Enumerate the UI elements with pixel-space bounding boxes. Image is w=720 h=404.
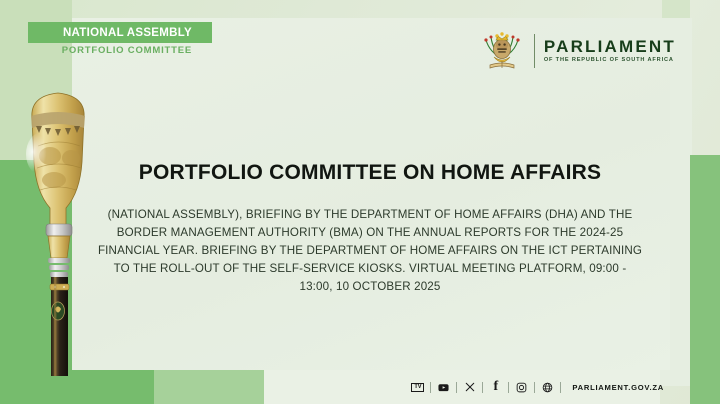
- committee-label: PORTFOLIO COMMITTEE: [28, 45, 212, 56]
- tv-icon[interactable]: TV: [411, 383, 424, 392]
- youtube-icon[interactable]: [437, 381, 450, 394]
- footer-divider: [482, 382, 483, 393]
- bottom-band-light: [154, 370, 264, 404]
- national-assembly-banner: NATIONAL ASSEMBLY: [28, 22, 212, 43]
- social-footer: TV f: [411, 380, 664, 394]
- footer-divider: [560, 382, 561, 393]
- meeting-description: (NATIONAL ASSEMBLY), BRIEFING BY THE DEP…: [96, 206, 644, 296]
- footer-divider: [430, 382, 431, 393]
- logo-subtitle: OF THE REPUBLIC OF SOUTH AFRICA: [544, 58, 676, 64]
- national-assembly-mace-icon: [24, 88, 92, 376]
- website-url[interactable]: PARLIAMENT.GOV.ZA: [572, 383, 664, 392]
- instagram-icon[interactable]: [515, 381, 528, 394]
- title-text-block: PORTFOLIO COMMITTEE ON HOME AFFAIRS (NAT…: [96, 160, 644, 296]
- logo-wordmark: PARLIAMENT OF THE REPUBLIC OF SOUTH AFRI…: [544, 38, 676, 64]
- globe-icon[interactable]: [541, 381, 554, 394]
- parliament-logo: PARLIAMENT OF THE REPUBLIC OF SOUTH AFRI…: [479, 30, 676, 72]
- facebook-icon[interactable]: f: [489, 381, 502, 394]
- south-african-coat-of-arms-icon: [479, 30, 525, 72]
- footer-divider: [456, 382, 457, 393]
- x-twitter-icon[interactable]: [463, 381, 476, 394]
- logo-title: PARLIAMENT: [544, 38, 676, 55]
- footer-divider: [508, 382, 509, 393]
- right-green-strip: [690, 155, 720, 404]
- footer-divider: [534, 382, 535, 393]
- broadcast-title-card: NATIONAL ASSEMBLY PORTFOLIO COMMITTEE: [0, 0, 720, 404]
- page-title: PORTFOLIO COMMITTEE ON HOME AFFAIRS: [96, 160, 644, 185]
- logo-divider: [534, 34, 535, 68]
- house-label: NATIONAL ASSEMBLY: [63, 27, 192, 39]
